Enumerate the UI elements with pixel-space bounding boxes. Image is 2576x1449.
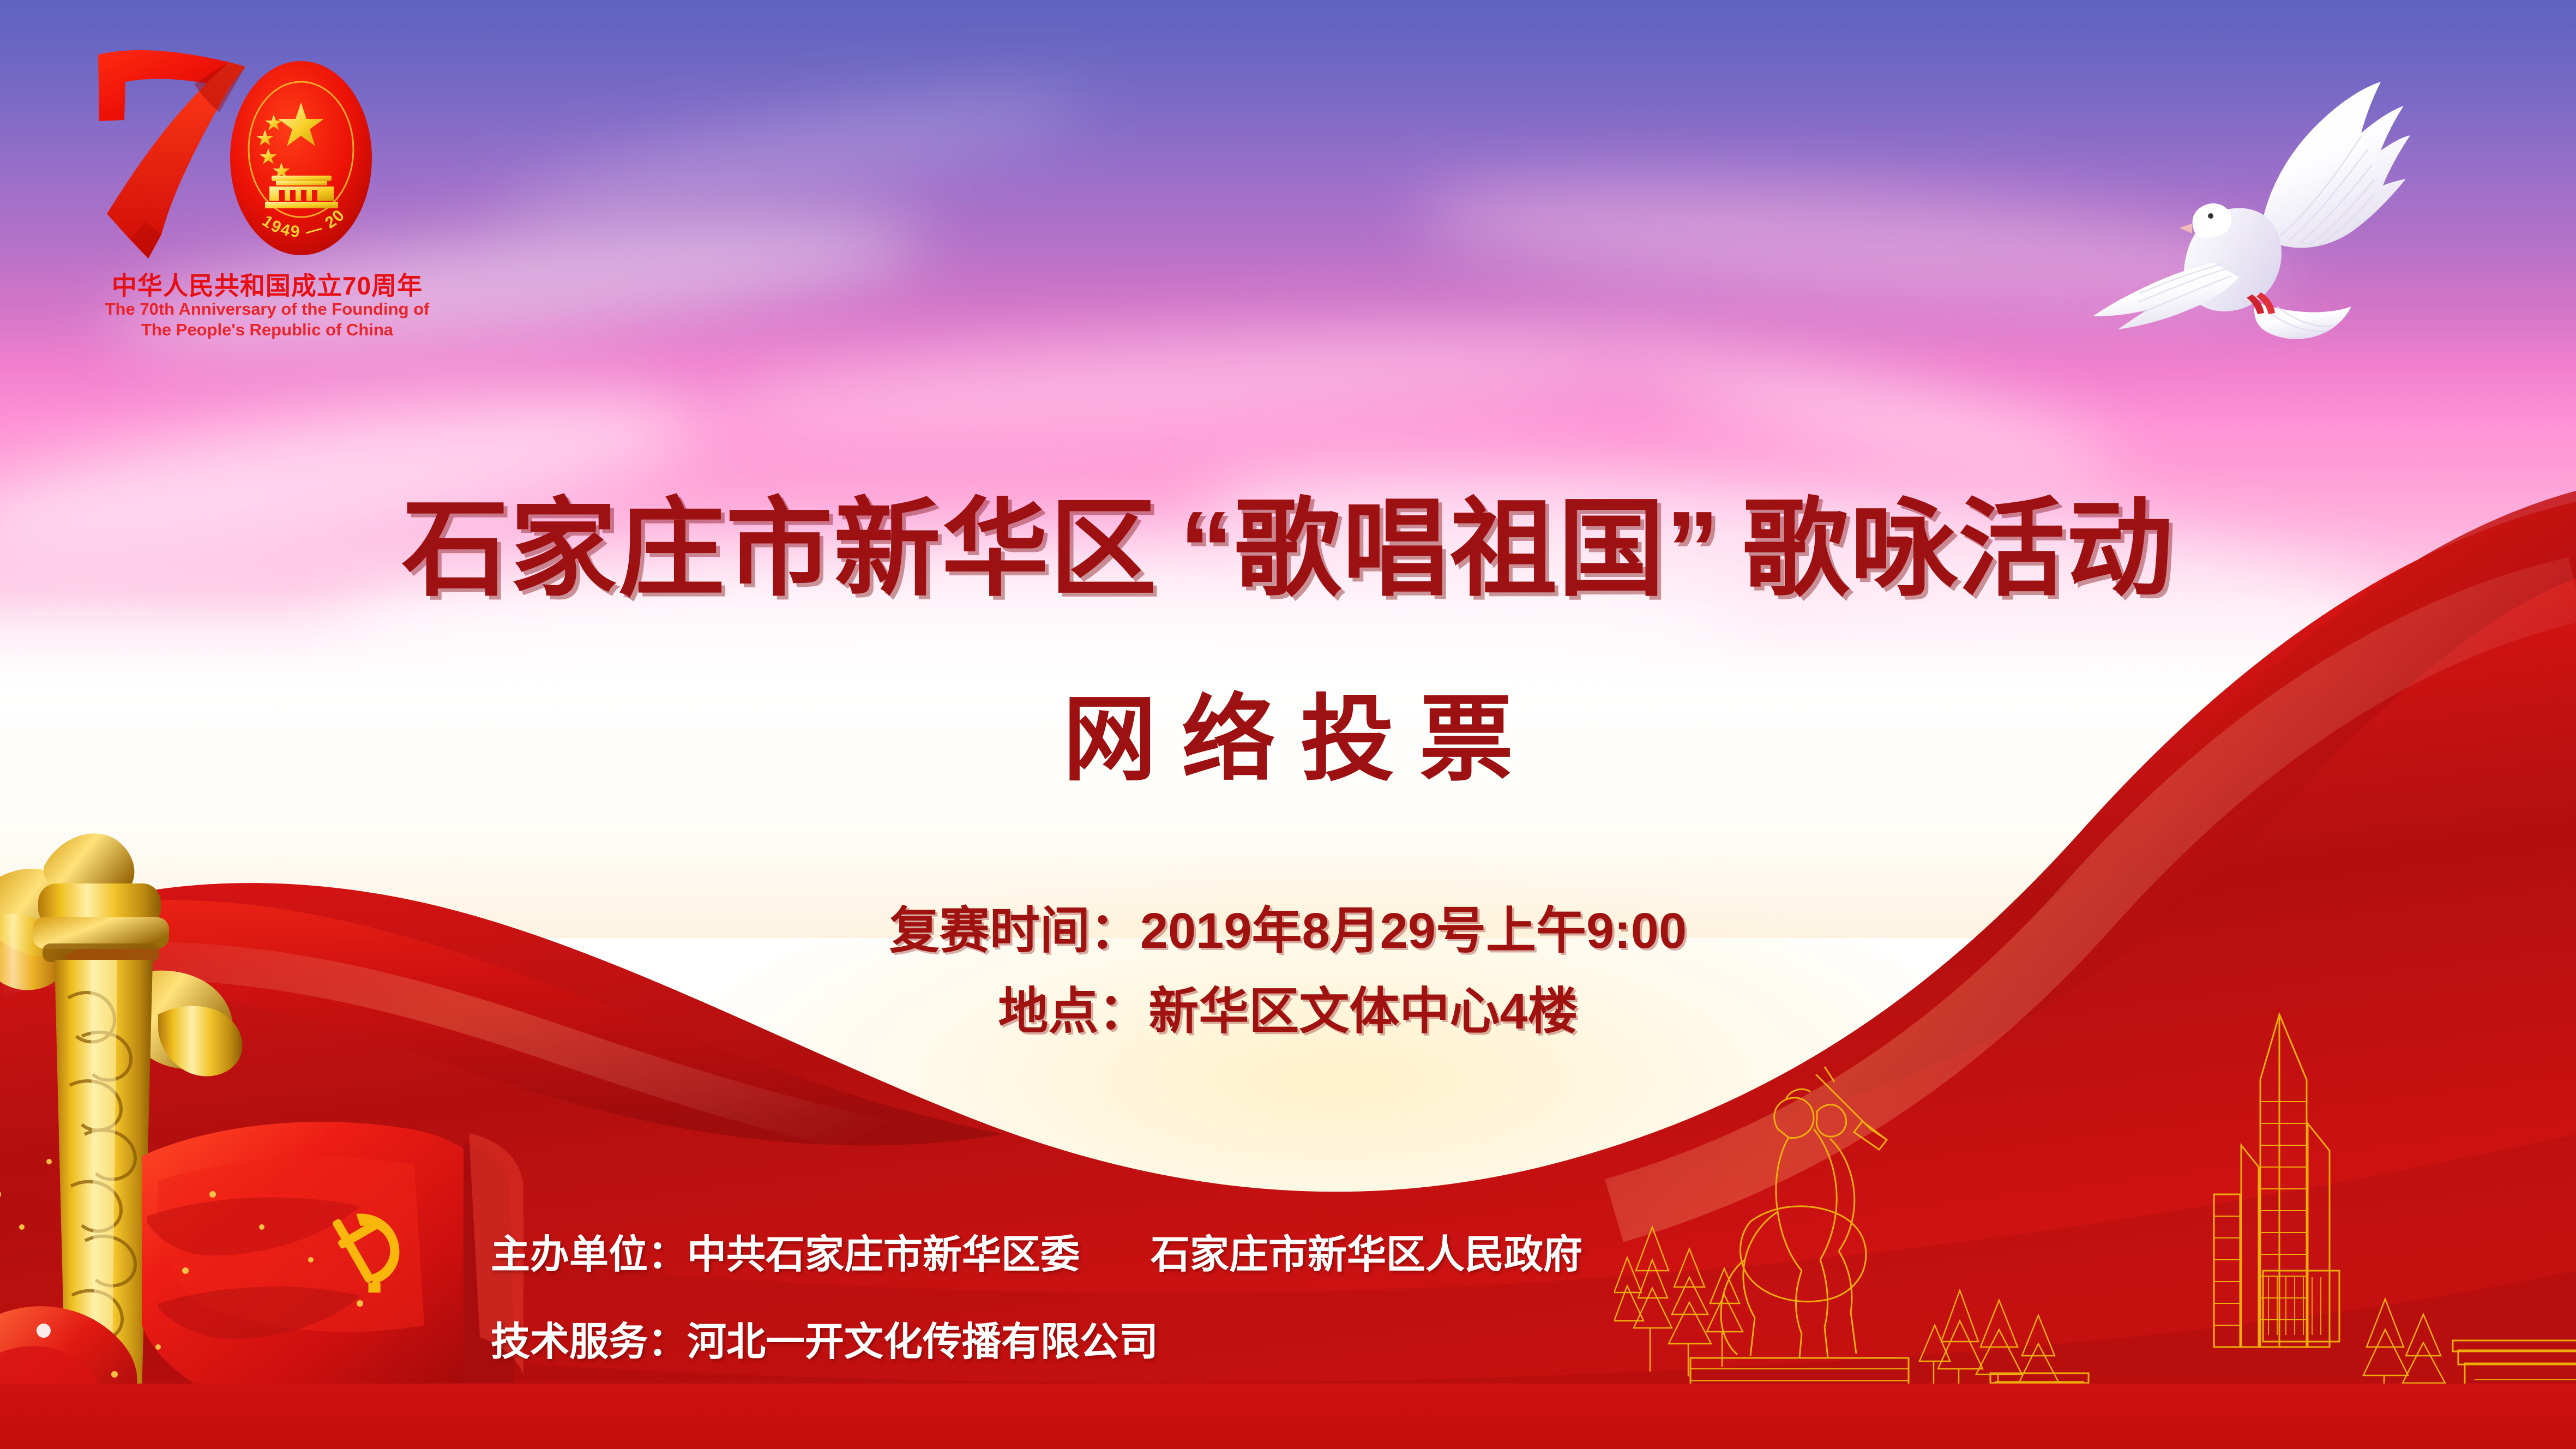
poster-title-line-1: 石家庄市新华区“歌唱祖国”歌咏活动 <box>0 462 2576 617</box>
anniversary-english-line2: The People's Republic of China <box>65 320 469 340</box>
organizer-credit-line: 主办单位：中共石家庄市新华区委石家庄市新华区人民政府 <box>491 1235 1963 1274</box>
bottom-red-band <box>0 1384 2576 1449</box>
anniversary-english-caption: The 70th Anniversary of the Founding of … <box>65 299 469 340</box>
anniversary-english-line1: The 70th Anniversary of the Founding of <box>65 299 469 320</box>
title-prefix: 石家庄市新华区 <box>402 489 1158 609</box>
anniversary-70-logo: 1949 — 2019 中华人民共和国成立70周年 The 70th Anniv… <box>65 38 469 360</box>
poster-title-line-2: 网络投票 <box>0 663 2576 799</box>
peace-dove-icon <box>2089 60 2427 344</box>
anniversary-chinese-caption: 中华人民共和国成立70周年 <box>65 266 469 302</box>
title-quote-open: “ <box>1179 489 1234 609</box>
poster-canvas: 1949 — 2019 中华人民共和国成立70周年 The 70th Anniv… <box>0 0 2576 1449</box>
tech-service-credit-line: 技术服务：河北一开文化传播有限公司 <box>491 1322 1963 1362</box>
logo-70-ribbon-icon: 1949 — 2019 <box>65 38 469 267</box>
organizer-credit-primary: 主办单位：中共石家庄市新华区委 <box>491 1233 1080 1277</box>
footer-credits: 主办单位：中共石家庄市新华区委石家庄市新华区人民政府 技术服务：河北一开文化传播… <box>491 1235 1963 1362</box>
event-location-line: 地点：新华区文体中心4楼 <box>0 971 2576 1043</box>
title-quote-close: ” <box>1666 489 1720 609</box>
title-quoted: 歌唱祖国 <box>1234 489 1666 609</box>
title-suffix: 歌咏活动 <box>1742 489 2174 609</box>
event-time-line: 复赛时间：2019年8月29号上午9:00 <box>0 890 2576 963</box>
huabiao-and-party-flag-ornament <box>0 780 523 1449</box>
organizer-credit-secondary: 石家庄市新华区人民政府 <box>1151 1233 1582 1277</box>
